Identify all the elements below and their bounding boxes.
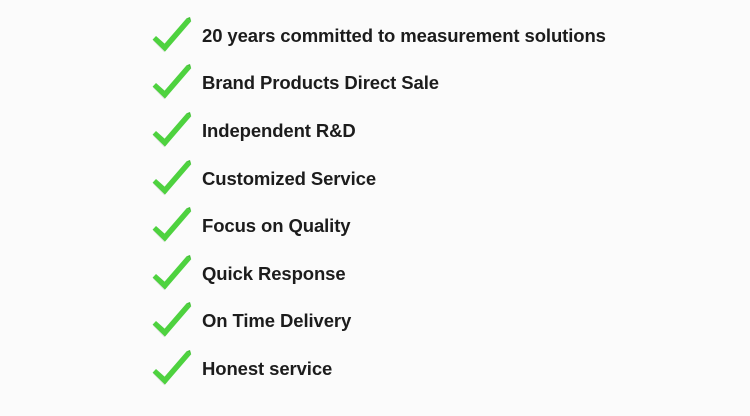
list-item-label: Independent R&D <box>202 120 730 142</box>
list-item: Focus on Quality <box>150 202 730 250</box>
list-item: Independent R&D <box>150 107 730 155</box>
check-icon <box>150 348 194 388</box>
list-item-label: Brand Products Direct Sale <box>202 72 730 94</box>
list-item: Honest service <box>150 345 730 393</box>
check-icon <box>150 205 194 245</box>
list-item: Brand Products Direct Sale <box>150 60 730 108</box>
check-icon <box>150 300 194 340</box>
list-item-label: On Time Delivery <box>202 310 730 332</box>
list-item-label: Quick Response <box>202 263 730 285</box>
advantages-list: 20 years committed to measurement soluti… <box>150 12 730 393</box>
check-icon <box>150 110 194 150</box>
check-icon <box>150 15 194 55</box>
advantages-panel: 20 years committed to measurement soluti… <box>0 0 750 416</box>
check-icon <box>150 158 194 198</box>
list-item-label: Focus on Quality <box>202 215 730 237</box>
list-item: 20 years committed to measurement soluti… <box>150 12 730 60</box>
list-item: On Time Delivery <box>150 298 730 346</box>
list-item: Customized Service <box>150 155 730 203</box>
check-icon <box>150 62 194 102</box>
check-icon <box>150 253 194 293</box>
list-item: Quick Response <box>150 250 730 298</box>
list-item-label: 20 years committed to measurement soluti… <box>202 25 730 47</box>
list-item-label: Customized Service <box>202 168 730 190</box>
list-item-label: Honest service <box>202 358 730 380</box>
